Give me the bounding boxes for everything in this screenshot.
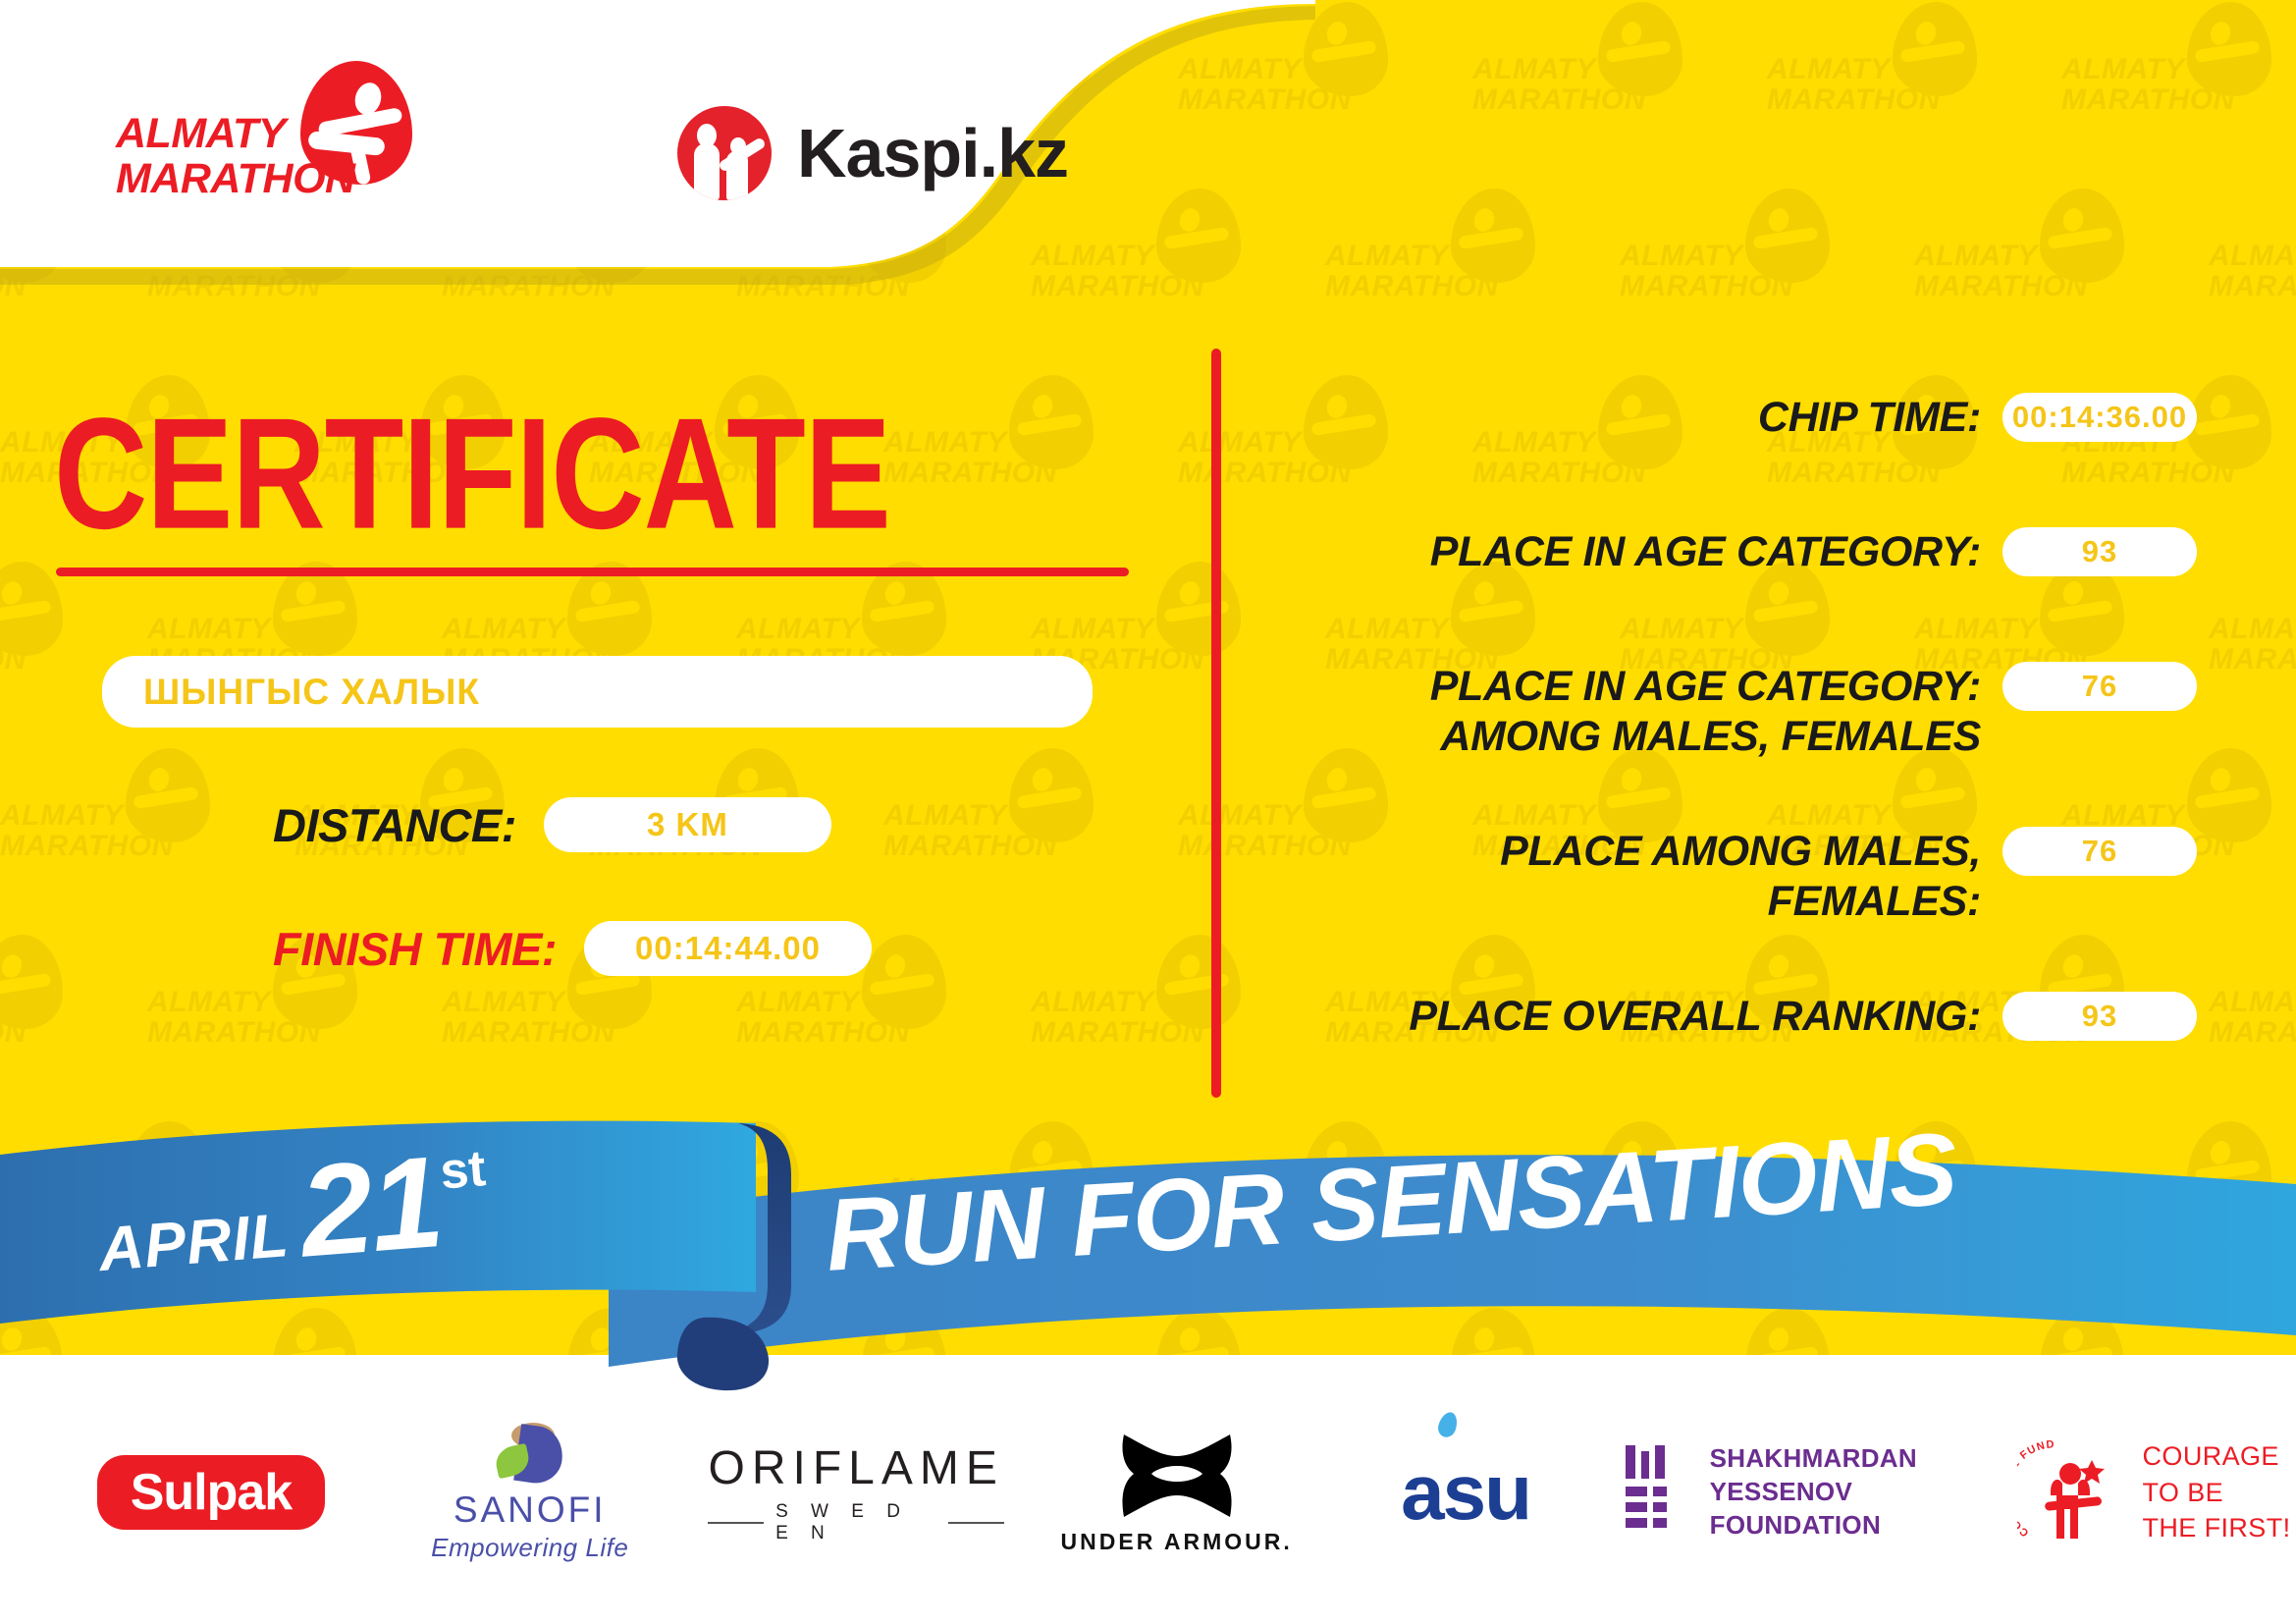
svg-text:CORPORATE FUND: CORPORATE FUND (2017, 1438, 2056, 1539)
finish-time-row: FINISH TIME: 00:14:44.00 (273, 921, 872, 976)
watermark-tile: ALMATY MARATHON (2061, 0, 2296, 187)
kaspi-people-icon (677, 106, 772, 200)
watermark-tile: ALMATY MARATHON (883, 373, 1178, 560)
watermark-tile: ALMATY MARATHON (1325, 187, 1620, 373)
watermark-runner-icon (1893, 2, 1977, 96)
distance-label: DISTANCE: (273, 798, 516, 852)
sulpak-logo-text: Sulpak (97, 1455, 326, 1530)
oriflame-sub-wrap: S W E D E N (708, 1501, 1003, 1544)
sponsor-logos: Sulpak SANOFI Empowering Life ORIFLAME S… (0, 1404, 2296, 1581)
watermark-text: ALMATY MARATHON (442, 988, 638, 1048)
watermark-tile: ALMATY MARATHON (0, 746, 294, 933)
courage-logo-text: COURAGE TO BE THE FIRST! (2143, 1438, 2291, 1545)
sponsor-sulpak: Sulpak (69, 1414, 353, 1571)
watermark-text: ALMATY MARATHON (2209, 242, 2296, 301)
place-overall-ranking-row: PLACE OVERALL RANKING: 93 (1294, 992, 2197, 1042)
chip-time-row: CHIP TIME: 00:14:36.00 (1294, 393, 2197, 443)
watermark-runner-icon (2187, 2, 2271, 96)
watermark-text: ALMATY MARATHON (1767, 55, 1963, 115)
watermark-runner-icon (2187, 748, 2271, 842)
kaspi-logo-text: Kaspi.kz (797, 114, 1068, 192)
kaspi-logo: Kaspi.kz (677, 106, 1068, 200)
chip-time-label: CHIP TIME: (1294, 393, 2002, 443)
place-age-category-label: PLACE IN AGE CATEGORY: (1294, 527, 2002, 577)
finish-time-label: FINISH TIME: (273, 922, 557, 976)
sanofi-leaf-icon (492, 1423, 568, 1488)
watermark-text: ALMATY MARATHON (2209, 615, 2296, 675)
distance-value: 3 KM (544, 797, 831, 852)
watermark-text: ALMATY MARATHON (1914, 242, 2110, 301)
event-day-suffix: st (438, 1139, 488, 1201)
watermark-tile: ALMATY MARATHON (2209, 187, 2296, 373)
chip-time-value: 00:14:36.00 (2002, 393, 2197, 442)
watermark-text: ALMATY MARATHON (883, 428, 1080, 488)
sponsor-yessenov-foundation: SHAKHMARDAN YESSENOV FOUNDATION (1622, 1414, 1966, 1571)
sponsor-sanofi: SANOFI Empowering Life (400, 1414, 660, 1571)
watermark-runner-icon (1009, 375, 1094, 469)
participant-name-field: ШЫНГЫС ХАЛЫК (102, 656, 1093, 728)
asu-logo-text: asu (1401, 1447, 1530, 1538)
watermark-text: ALMATY MARATHON (2209, 988, 2296, 1048)
title-divider-rule (56, 568, 1129, 576)
place-age-category-gender-value: 76 (2002, 662, 2197, 711)
watermark-runner-icon (1156, 935, 1241, 1029)
watermark-tile: ALMATY MARATHON (2209, 560, 2296, 746)
watermark-tile: ALMATY MARATHON (1472, 0, 1767, 187)
watermark-runner-icon (1451, 189, 1535, 283)
place-age-category-gender-row: PLACE IN AGE CATEGORY: AMONG MALES, FEMA… (1294, 662, 2197, 761)
watermark-runner-icon (126, 748, 210, 842)
almaty-marathon-logo: ALMATY MARATHON (116, 61, 440, 208)
sponsor-asu: asu (1349, 1414, 1581, 1571)
certificate-page: ALMATY MARATHONALMATY MARATHONALMATY MAR… (0, 0, 2296, 1624)
under-armour-logo-text: UNDER ARMOUR. (1061, 1529, 1293, 1555)
watermark-runner-icon (1156, 562, 1241, 656)
sanofi-logo-text: SANOFI (454, 1489, 607, 1531)
page-title: CERTIFICATE (54, 383, 890, 564)
sanofi-tagline: Empowering Life (431, 1533, 628, 1563)
watermark-tile: ALMATY MARATHON (883, 746, 1178, 933)
place-age-category-row: PLACE IN AGE CATEGORY: 93 (1294, 527, 2197, 577)
watermark-text: ALMATY MARATHON (883, 801, 1080, 861)
under-armour-icon (1112, 1431, 1242, 1521)
watermark-tile: ALMATY MARATHON (1767, 0, 2061, 187)
finish-time-value: 00:14:44.00 (584, 921, 872, 976)
watermark-runner-icon (2040, 189, 2124, 283)
asu-drop-icon (1436, 1410, 1461, 1439)
watermark-runner-icon (0, 935, 63, 1029)
watermark-tile: ALMATY MARATHON (1914, 187, 2209, 373)
sponsor-under-armour: UNDER ARMOUR. (1047, 1414, 1307, 1571)
place-among-gender-label: PLACE AMONG MALES, FEMALES: (1294, 827, 2002, 926)
oriflame-logo-text: ORIFLAME (708, 1441, 1003, 1495)
place-among-gender-value: 76 (2002, 827, 2197, 876)
watermark-text: ALMATY MARATHON (147, 988, 344, 1048)
column-divider (1211, 349, 1221, 1098)
event-month: APRIL (96, 1200, 292, 1285)
watermark-text: ALMATY MARATHON (0, 801, 196, 861)
place-overall-ranking-label: PLACE OVERALL RANKING: (1294, 992, 2002, 1042)
watermark-runner-icon (1009, 748, 1094, 842)
oriflame-rule-right (948, 1522, 1004, 1524)
courage-figure-icon: CORPORATE FUND (2017, 1438, 2127, 1546)
yessenov-logo-text: SHAKHMARDAN YESSENOV FOUNDATION (1710, 1442, 1966, 1542)
watermark-runner-icon (1745, 189, 1830, 283)
almaty-marathon-logo-text: ALMATY MARATHON (116, 112, 355, 201)
oriflame-sub-text: S W E D E N (775, 1501, 936, 1544)
watermark-text: ALMATY MARATHON (1031, 988, 1227, 1048)
watermark-text: ALMATY MARATHON (736, 988, 933, 1048)
distance-row: DISTANCE: 3 KM (273, 797, 831, 852)
place-age-category-gender-label: PLACE IN AGE CATEGORY: AMONG MALES, FEMA… (1294, 662, 2002, 761)
sponsor-oriflame: ORIFLAME S W E D E N (708, 1414, 1003, 1571)
watermark-runner-icon (862, 935, 946, 1029)
event-date: APRIL 21 st (91, 1123, 492, 1302)
place-among-gender-row: PLACE AMONG MALES, FEMALES: 76 (1294, 827, 2197, 926)
watermark-text: ALMATY MARATHON (2061, 55, 2258, 115)
place-age-category-value: 93 (2002, 527, 2197, 576)
watermark-runner-icon (0, 562, 63, 656)
watermark-text: ALMATY MARATHON (1620, 242, 1816, 301)
place-overall-ranking-value: 93 (2002, 992, 2197, 1041)
watermark-tile: ALMATY MARATHON (1620, 187, 1914, 373)
watermark-runner-icon (1304, 2, 1388, 96)
watermark-text: ALMATY MARATHON (0, 988, 49, 1048)
watermark-runner-icon (1598, 2, 1682, 96)
event-day: 21 (295, 1127, 447, 1286)
watermark-runner-icon (2187, 375, 2271, 469)
yessenov-bars-icon (1622, 1445, 1686, 1540)
sponsor-courage-fund: CORPORATE FUND COURAGE TO BE THE FIRST! (2011, 1414, 2296, 1571)
watermark-text: ALMATY MARATHON (1472, 55, 1669, 115)
watermark-text: ALMATY MARATHON (0, 615, 49, 675)
watermark-text: ALMATY MARATHON (1325, 242, 1522, 301)
oriflame-rule-left (708, 1522, 764, 1524)
